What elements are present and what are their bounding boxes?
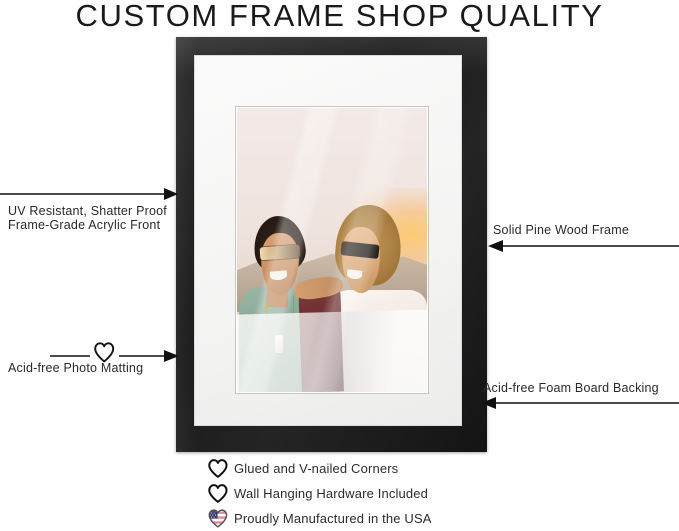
list-item: Wall Hanging Hardware Included bbox=[208, 481, 538, 506]
photo-image bbox=[237, 108, 427, 392]
picture-frame bbox=[176, 37, 487, 452]
callout-line-2: Frame-Grade Acrylic Front bbox=[8, 218, 167, 232]
arrow-left-icon bbox=[488, 240, 503, 252]
heart-outline-icon bbox=[208, 483, 234, 505]
arrow-right-icon bbox=[164, 188, 178, 200]
list-item-label: Proudly Manufactured in the USA bbox=[234, 511, 432, 526]
photo-man-sunglasses bbox=[259, 244, 300, 260]
list-item-label: Wall Hanging Hardware Included bbox=[234, 486, 428, 501]
list-item: Glued and V-nailed Corners bbox=[208, 456, 538, 481]
feature-list: Glued and V-nailed Corners Wall Hanging … bbox=[208, 456, 538, 531]
page-title: CUSTOM FRAME SHOP QUALITY bbox=[0, 0, 679, 34]
mat-board bbox=[194, 55, 462, 426]
list-item: Proudly Manufactured in the USA bbox=[208, 506, 538, 531]
arrow-right-icon bbox=[164, 350, 179, 362]
callout-line-pine-wood-frame bbox=[487, 238, 679, 254]
photo-woman-face bbox=[342, 227, 380, 292]
mat-bevel-opening bbox=[236, 107, 428, 393]
heart-outline-icon bbox=[208, 458, 234, 480]
list-item-label: Glued and V-nailed Corners bbox=[234, 461, 398, 476]
callout-label-acrylic-front: UV Resistant, Shatter Proof Frame-Grade … bbox=[8, 204, 167, 232]
callout-label-foam-board-backing: Acid-free Foam Board Backing bbox=[483, 381, 659, 395]
callout-label-photo-matting: Acid-free Photo Matting bbox=[8, 361, 143, 375]
callout-line-foam-board-backing bbox=[480, 395, 679, 411]
heart-usa-flag-icon bbox=[208, 508, 234, 530]
heart-outline-icon bbox=[95, 343, 113, 361]
callout-line-1: UV Resistant, Shatter Proof bbox=[8, 204, 167, 218]
callout-label-pine-wood-frame: Solid Pine Wood Frame bbox=[493, 223, 629, 237]
arrow-left-icon bbox=[481, 397, 496, 409]
photo-woman-smile bbox=[347, 269, 363, 279]
callout-line-acrylic-front bbox=[0, 186, 180, 202]
photo-dog-tag bbox=[275, 335, 283, 353]
